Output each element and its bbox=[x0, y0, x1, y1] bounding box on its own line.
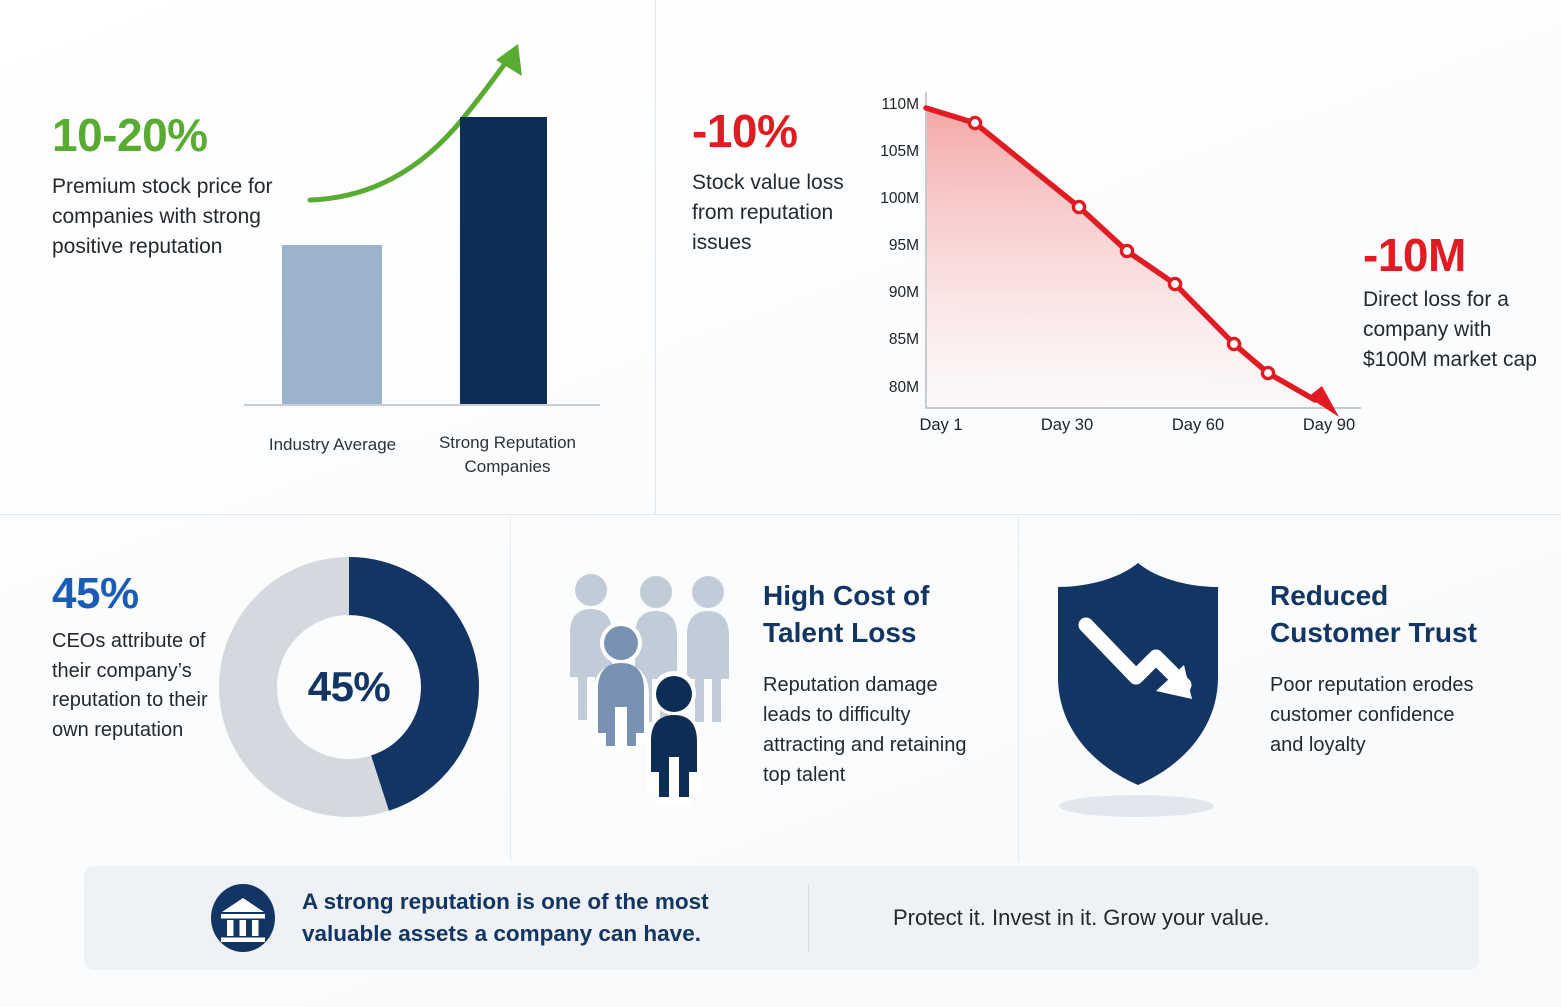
customer-trust-description: Poor reputation erodes customer confiden… bbox=[1270, 670, 1475, 760]
bar-strong-reputation bbox=[460, 117, 547, 404]
bar-label-industry-average: Industry Average bbox=[250, 433, 415, 458]
talent-loss-description: Reputation damage leads to difficulty at… bbox=[763, 670, 978, 790]
direct-loss-description: Direct loss for a company with $100M mar… bbox=[1363, 285, 1548, 374]
y-tick-90m: 90M bbox=[889, 284, 919, 302]
x-tick-day-30: Day 30 bbox=[1041, 416, 1093, 435]
y-tick-80m: 80M bbox=[889, 379, 919, 397]
panel-stock-value-loss: -10% Stock value loss from reputation is… bbox=[656, 0, 1561, 514]
y-tick-95m: 95M bbox=[889, 237, 919, 255]
x-tick-day-90: Day 90 bbox=[1303, 416, 1355, 435]
bar-industry-average bbox=[282, 245, 382, 404]
panel-customer-trust: Reduced Customer Trust Poor reputation e… bbox=[1019, 515, 1561, 861]
ceo-stat-value: 45% bbox=[52, 572, 139, 616]
y-tick-105m: 105M bbox=[880, 143, 919, 161]
upward-growth-arrow-icon bbox=[300, 40, 600, 240]
stock-loss-stat-value: -10% bbox=[692, 108, 797, 154]
shield-down-arrow-icon bbox=[1052, 559, 1224, 789]
premium-stat-value: 10-20% bbox=[52, 112, 208, 158]
talent-loss-title: High Cost of Talent Loss bbox=[763, 577, 993, 651]
customer-trust-title: Reduced Customer Trust bbox=[1270, 577, 1520, 651]
donut-center-value: 45% bbox=[218, 556, 480, 818]
shield-shadow bbox=[1059, 795, 1214, 817]
donut-chart: 45% bbox=[218, 556, 480, 818]
panel-premium-stock-price: 10-20% Premium stock price for companies… bbox=[0, 0, 655, 514]
ceo-stat-description: CEOs attribute of their company’s reputa… bbox=[52, 627, 222, 745]
x-tick-day-60: Day 60 bbox=[1172, 416, 1224, 435]
y-tick-100m: 100M bbox=[880, 190, 919, 208]
area-chart-plot bbox=[919, 92, 1361, 422]
bar-chart: Industry Average Strong Reputation Compa… bbox=[240, 40, 630, 480]
panel-talent-loss: High Cost of Talent Loss Reputation dama… bbox=[511, 515, 1018, 861]
bar-label-strong-reputation: Strong Reputation Companies bbox=[425, 431, 590, 480]
x-tick-day-1: Day 1 bbox=[919, 416, 962, 435]
panel-ceo-reputation: 45% CEOs attribute of their company’s re… bbox=[0, 515, 510, 861]
banner-sub-text: Protect it. Invest in it. Grow your valu… bbox=[893, 905, 1270, 931]
stock-loss-description: Stock value loss from reputation issues bbox=[692, 168, 877, 257]
people-group-icon bbox=[564, 565, 744, 805]
bank-institution-icon bbox=[208, 883, 278, 953]
infographic-page: 10-20% Premium stock price for companies… bbox=[0, 0, 1561, 1007]
direct-loss-stat-value: -10M bbox=[1363, 232, 1466, 278]
y-tick-110m: 110M bbox=[881, 96, 919, 114]
summary-banner: A strong reputation is one of the most v… bbox=[84, 866, 1479, 970]
banner-main-text: A strong reputation is one of the most v… bbox=[302, 886, 772, 950]
banner-separator bbox=[808, 884, 809, 952]
bar-axis-baseline bbox=[244, 404, 600, 406]
y-tick-85m: 85M bbox=[889, 331, 919, 349]
stock-decline-area-chart: 110M 105M 100M 95M 90M 85M 80M bbox=[861, 78, 1361, 428]
